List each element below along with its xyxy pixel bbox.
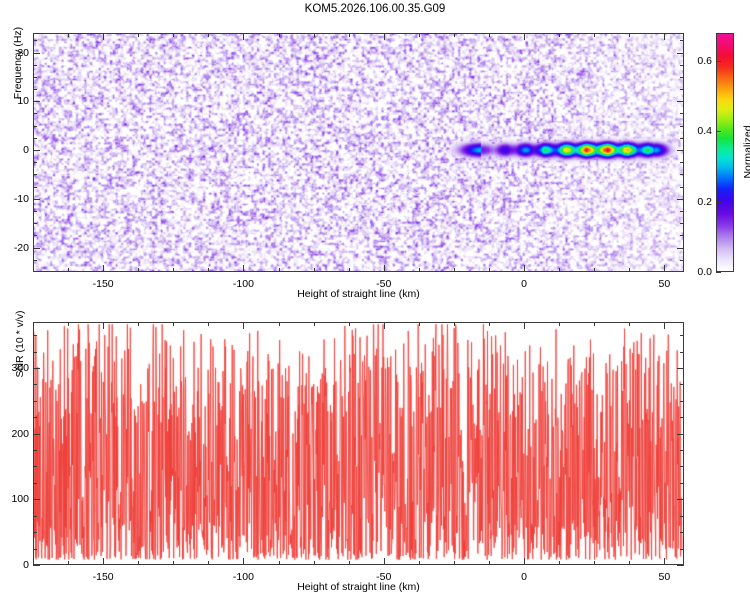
colorbar-tick-label: 0.6 [686,55,712,67]
y-tick-minor [33,211,37,212]
y-tick-minor [33,516,37,517]
y-tick-minor [33,113,37,114]
colorbar-tick-label: 0.4 [686,125,712,137]
x-tick-minor-top [419,33,420,37]
x-tick-minor-top [349,33,350,37]
x-tick-minor [489,268,490,272]
y-tick-minor [33,138,37,139]
y-tick-major-right [677,199,684,200]
x-tick-minor-top [138,322,139,326]
x-tick-minor [279,561,280,565]
x-tick-minor [664,561,665,565]
colorbar-tick [716,131,721,132]
y-tick-minor-right [680,335,684,336]
y-tick-major [33,150,40,151]
x-tick-minor [629,268,630,272]
y-tick-minor [33,483,37,484]
y-tick-minor-right [680,77,684,78]
y-tick-minor-right [680,138,684,139]
y-tick-minor-right [680,549,684,550]
x-tick-minor [68,268,69,272]
x-tick-major [384,558,385,565]
y-tick-minor [33,223,37,224]
x-tick-minor [279,268,280,272]
y-tick-minor [33,401,37,402]
y-tick-minor-right [680,352,684,353]
y-tick-minor-right [680,126,684,127]
x-tick-minor [349,268,350,272]
y-tick-minor-right [680,384,684,385]
x-tick-minor-top [68,33,69,37]
x-tick-major [103,265,104,272]
x-tick-minor-top [594,33,595,37]
y-tick-major [33,434,40,435]
x-tick-minor [208,561,209,565]
x-tick-minor [419,561,420,565]
x-tick-major [243,558,244,565]
snr-x-axis-title: Height of straight line (km) [33,581,684,593]
x-tick-minor-top [559,33,560,37]
y-tick-major [33,248,40,249]
x-tick-major [243,265,244,272]
x-tick-minor-top [33,33,34,37]
x-tick-minor [314,561,315,565]
colorbar-tick-label: 0.0 [686,266,712,278]
y-tick-label: -10 [3,193,29,205]
y-tick-major-right [677,434,684,435]
x-tick-major [524,558,525,565]
x-tick-minor [559,561,560,565]
y-tick-major-right [677,248,684,249]
y-tick-minor-right [680,211,684,212]
x-tick-minor-top [664,322,665,326]
y-tick-label: 0 [3,559,29,571]
x-tick-minor-top [454,33,455,37]
x-tick-minor-top [68,322,69,326]
x-tick-minor-top [138,33,139,37]
y-tick-major-right [677,53,684,54]
y-tick-minor-right [680,450,684,451]
y-tick-minor-right [680,223,684,224]
y-tick-minor-right [680,174,684,175]
colorbar-tick [716,272,721,273]
y-tick-minor-right [680,235,684,236]
y-tick-minor-right [680,516,684,517]
y-tick-minor-right [680,40,684,41]
x-tick-minor [314,268,315,272]
y-tick-minor-right [680,260,684,261]
y-tick-minor [33,532,37,533]
y-tick-minor [33,260,37,261]
y-tick-major-right [677,565,684,566]
y-tick-minor [33,549,37,550]
x-tick-minor-top [419,322,420,326]
x-tick-minor [454,561,455,565]
figure-title: KOM5.2026.106.00.35.G09 [0,3,750,15]
y-tick-minor-right [680,65,684,66]
spectrogram-x-axis-title: Height of straight line (km) [33,288,684,300]
y-tick-minor-right [680,532,684,533]
x-tick-minor [419,268,420,272]
y-tick-major-right [677,368,684,369]
x-tick-major-top [103,33,104,40]
x-tick-minor [138,268,139,272]
snr-plot-area [34,323,683,564]
y-tick-minor-right [680,113,684,114]
snr-panel [33,322,684,565]
colorbar-tick-label: 0.2 [686,196,712,208]
x-tick-minor [594,561,595,565]
x-tick-minor-top [279,322,280,326]
y-tick-major [33,499,40,500]
y-tick-minor [33,450,37,451]
x-tick-minor-top [314,322,315,326]
y-tick-major-right [677,101,684,102]
y-tick-major-right [677,150,684,151]
x-tick-minor [349,561,350,565]
x-tick-major [524,265,525,272]
x-tick-major-top [524,322,525,329]
y-tick-minor [33,335,37,336]
y-tick-minor [33,77,37,78]
x-tick-minor [173,268,174,272]
x-tick-minor [138,561,139,565]
x-tick-major-top [384,33,385,40]
x-tick-minor [208,268,209,272]
x-tick-minor-top [349,322,350,326]
x-tick-minor [489,561,490,565]
x-tick-minor-top [489,33,490,37]
y-tick-major-right [677,499,684,500]
x-tick-minor [559,268,560,272]
spectrogram-image [34,34,683,271]
y-tick-major [33,199,40,200]
x-tick-major-top [103,322,104,329]
y-tick-minor [33,466,37,467]
x-tick-minor-top [208,33,209,37]
x-tick-minor [664,268,665,272]
snr-y-axis-title: SNR (10 * v/v) [14,244,26,444]
y-tick-minor-right [680,187,684,188]
y-tick-minor [33,187,37,188]
x-tick-major-top [243,322,244,329]
x-tick-major [384,265,385,272]
y-tick-minor-right [680,466,684,467]
y-tick-minor-right [680,89,684,90]
x-tick-major-top [524,33,525,40]
colorbar-tick [716,202,721,203]
y-tick-label: 100 [3,493,29,505]
y-tick-major [33,101,40,102]
x-tick-minor-top [33,322,34,326]
x-tick-minor-top [454,322,455,326]
colorbar [716,33,734,272]
x-tick-major-top [243,33,244,40]
y-tick-major [33,565,40,566]
x-tick-minor-top [629,322,630,326]
y-tick-minor-right [680,162,684,163]
x-tick-minor-top [489,322,490,326]
x-tick-minor-top [208,322,209,326]
x-tick-minor-top [664,33,665,37]
spectrogram-panel [33,33,684,272]
y-tick-minor [33,89,37,90]
y-tick-minor-right [680,417,684,418]
x-tick-minor [33,268,34,272]
y-tick-minor [33,162,37,163]
x-tick-minor [454,268,455,272]
x-tick-major [103,558,104,565]
x-tick-minor-top [559,322,560,326]
spectrogram-y-axis-title: Frequency (Hz) [12,0,24,153]
y-tick-minor [33,352,37,353]
y-tick-minor [33,417,37,418]
y-tick-minor-right [680,401,684,402]
y-tick-minor [33,40,37,41]
y-tick-minor-right [680,483,684,484]
y-tick-major [33,53,40,54]
y-tick-minor [33,174,37,175]
y-tick-minor [33,235,37,236]
x-tick-minor-top [314,33,315,37]
x-tick-minor-top [173,322,174,326]
x-tick-minor [173,561,174,565]
x-tick-minor [68,561,69,565]
x-tick-minor-top [279,33,280,37]
x-tick-minor-top [173,33,174,37]
colorbar-title: Normalized spectral amplitude [742,125,750,178]
x-tick-minor [594,268,595,272]
y-tick-minor [33,384,37,385]
x-tick-major-top [384,322,385,329]
x-tick-minor [629,561,630,565]
x-tick-minor-top [629,33,630,37]
colorbar-tick [716,61,721,62]
y-tick-minor [33,126,37,127]
figure-root: KOM5.2026.106.00.35.G09 -150-100-5005020… [0,0,750,600]
y-tick-minor [33,65,37,66]
x-tick-minor-top [594,322,595,326]
y-tick-major [33,368,40,369]
